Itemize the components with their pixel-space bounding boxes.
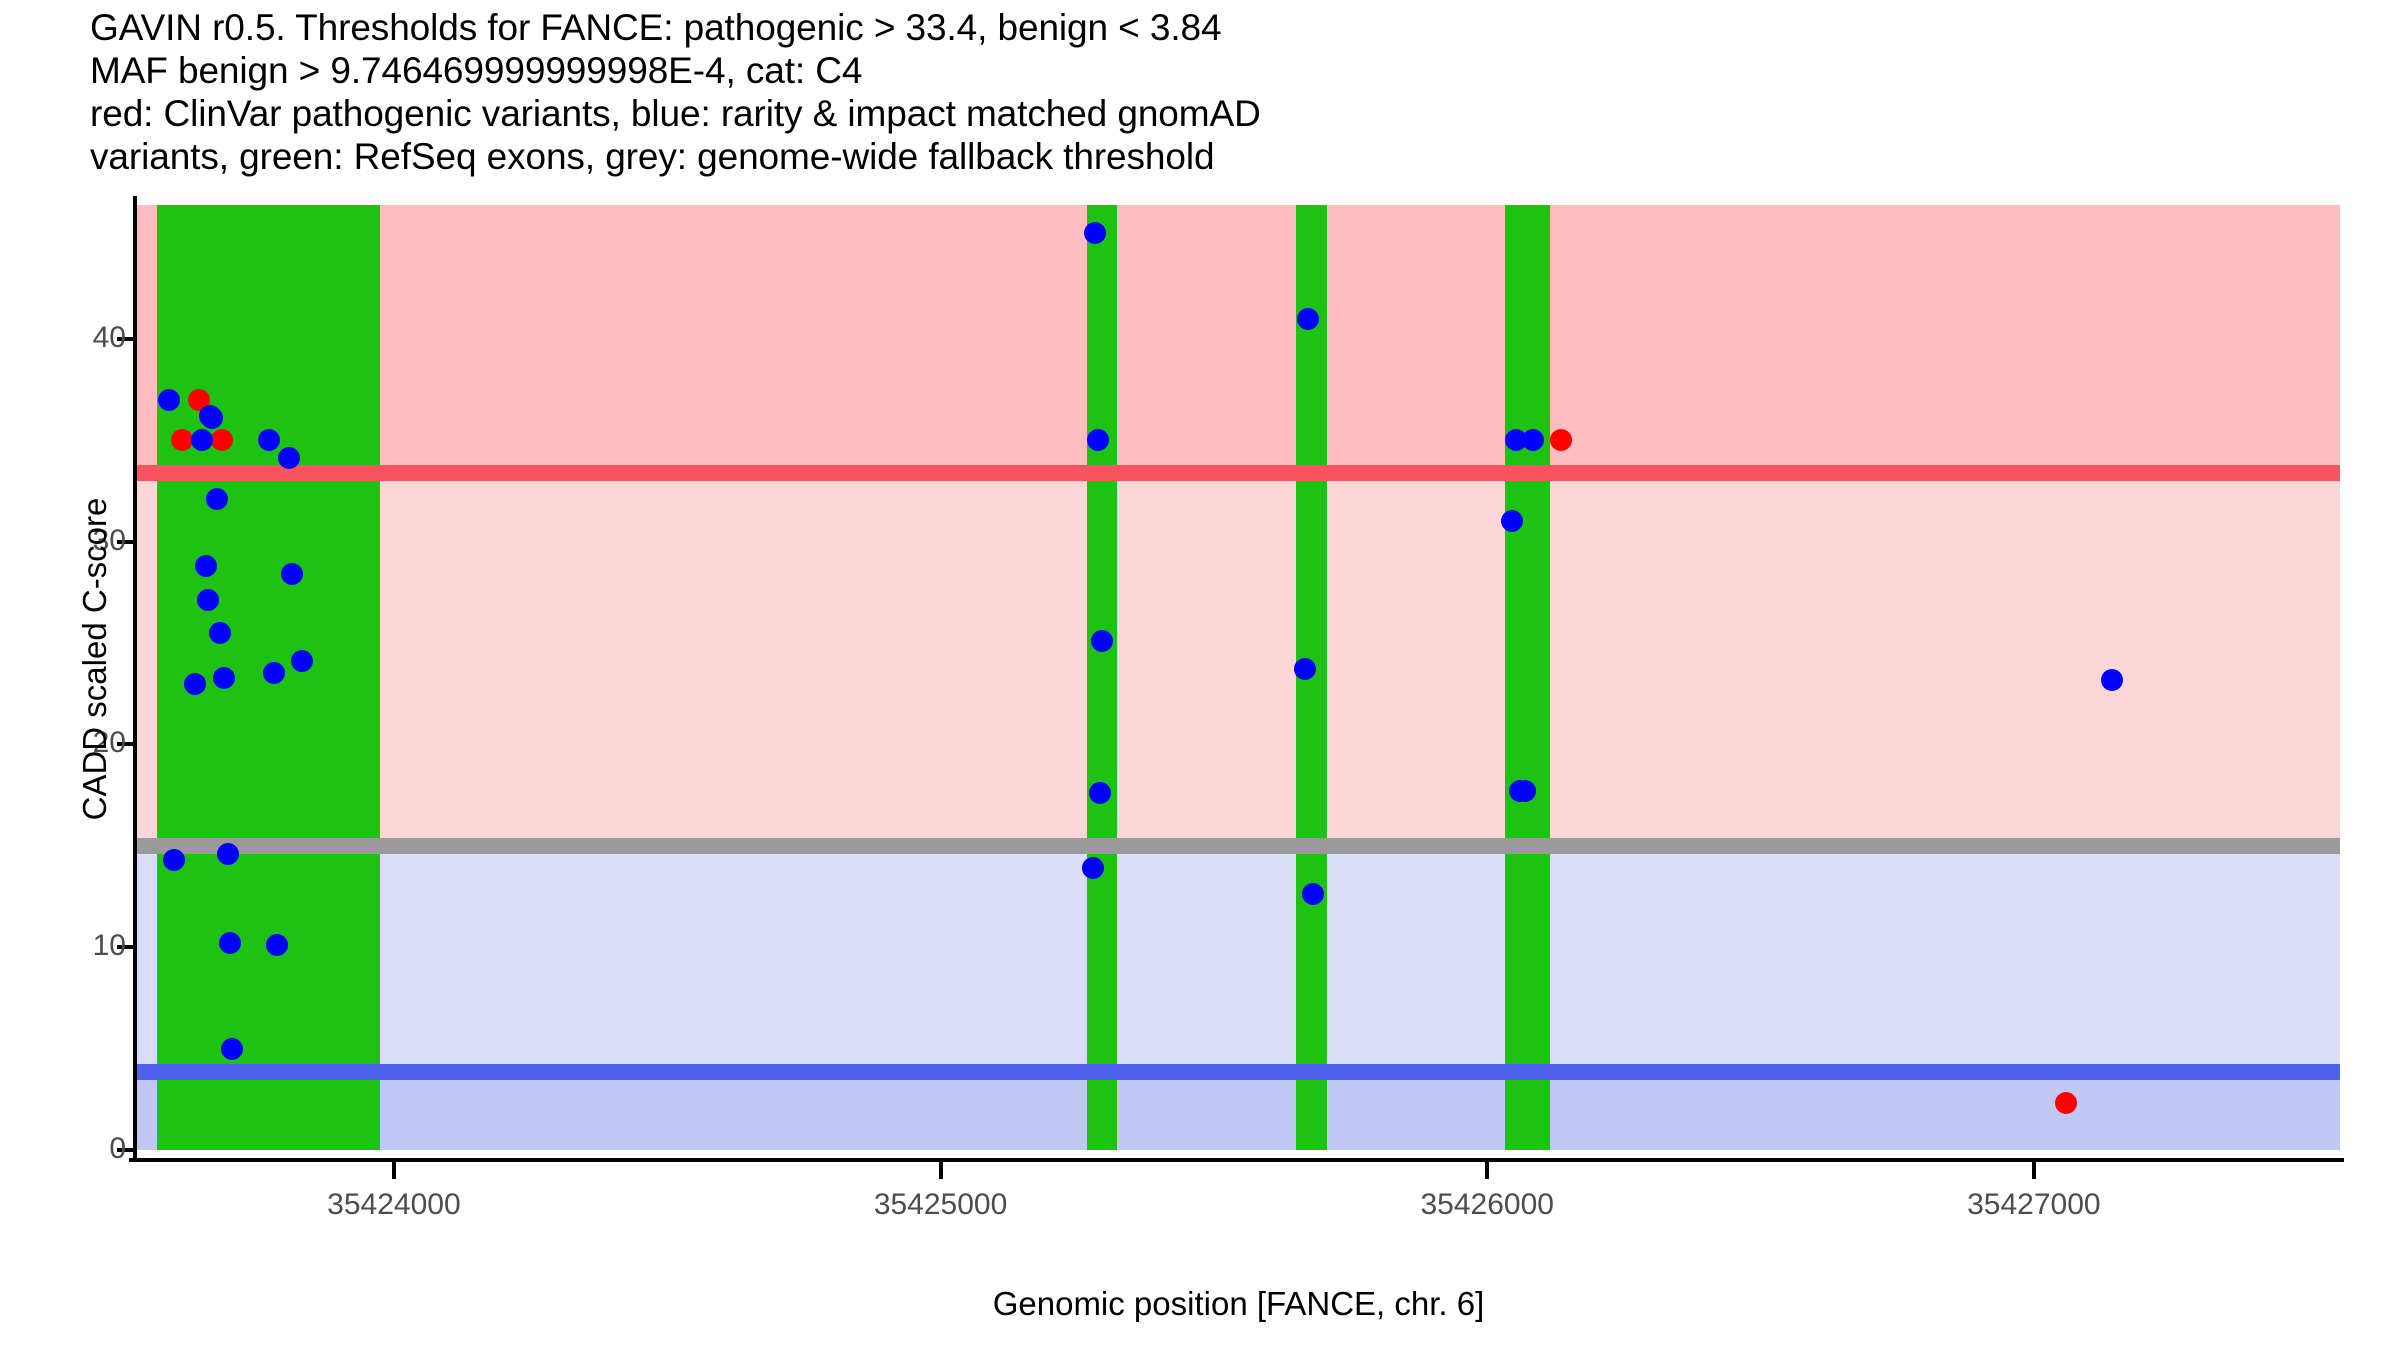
x-axis-tick-label: 35425000 bbox=[791, 1188, 1091, 1222]
pathogenic-low-band bbox=[137, 473, 2340, 846]
x-axis-tick-label: 35424000 bbox=[244, 1188, 544, 1222]
chart-root: GAVIN r0.5. Thresholds for FANCE: pathog… bbox=[0, 0, 2400, 1350]
gnomad-point bbox=[163, 849, 185, 871]
chart-title-block: GAVIN r0.5. Thresholds for FANCE: pathog… bbox=[90, 6, 2370, 178]
gnomad-point bbox=[219, 932, 241, 954]
x-axis-tick bbox=[392, 1162, 396, 1179]
gnomad-point bbox=[184, 673, 206, 695]
gnomad-point bbox=[221, 1038, 243, 1060]
y-axis-line bbox=[133, 196, 137, 1162]
x-axis-tick bbox=[939, 1162, 943, 1179]
x-axis-tick bbox=[2032, 1162, 2036, 1179]
gnomad-point bbox=[206, 488, 228, 510]
gnomad-point bbox=[1297, 308, 1319, 330]
title-line-2: MAF benign > 9.746469999999998E-4, cat: … bbox=[90, 49, 2370, 92]
pathogenic-point bbox=[2055, 1092, 2077, 1114]
gnomad-point bbox=[2101, 669, 2123, 691]
x-axis-tick bbox=[1485, 1162, 1489, 1179]
y-axis-title: CADD scaled C-score bbox=[76, 209, 114, 1109]
pathogenic-high-band bbox=[137, 205, 2340, 473]
benign-high-band bbox=[137, 846, 2340, 1072]
plot-panel bbox=[137, 205, 2340, 1150]
pathogenic-point bbox=[171, 429, 193, 451]
gnomad-point bbox=[1294, 658, 1316, 680]
exon-2 bbox=[1087, 205, 1117, 1150]
gnomad-point bbox=[217, 843, 239, 865]
gnomad-point bbox=[1082, 857, 1104, 879]
title-line-4: variants, green: RefSeq exons, grey: gen… bbox=[90, 135, 2370, 178]
y-axis-tick-label: 0 bbox=[6, 1132, 126, 1166]
gnomad-point bbox=[191, 429, 213, 451]
x-axis-line bbox=[129, 1158, 2344, 1162]
gnomad-point bbox=[263, 662, 285, 684]
fallback-threshold-line bbox=[137, 838, 2340, 854]
exon-4 bbox=[1505, 205, 1550, 1150]
title-line-3: red: ClinVar pathogenic variants, blue: … bbox=[90, 92, 2370, 135]
x-axis-tick-label: 35426000 bbox=[1337, 1188, 1637, 1222]
gnomad-point bbox=[209, 622, 231, 644]
x-axis-tick-label: 35427000 bbox=[1884, 1188, 2184, 1222]
pathogenic-threshold-line bbox=[137, 465, 2340, 481]
title-line-1: GAVIN r0.5. Thresholds for FANCE: pathog… bbox=[90, 6, 2370, 49]
benign-low-band bbox=[137, 1072, 2340, 1150]
benign-threshold-line bbox=[137, 1064, 2340, 1080]
gnomad-point bbox=[158, 389, 180, 411]
gnomad-point bbox=[197, 589, 219, 611]
x-axis-title: Genomic position [FANCE, chr. 6] bbox=[137, 1285, 2340, 1323]
gnomad-point bbox=[213, 667, 235, 689]
